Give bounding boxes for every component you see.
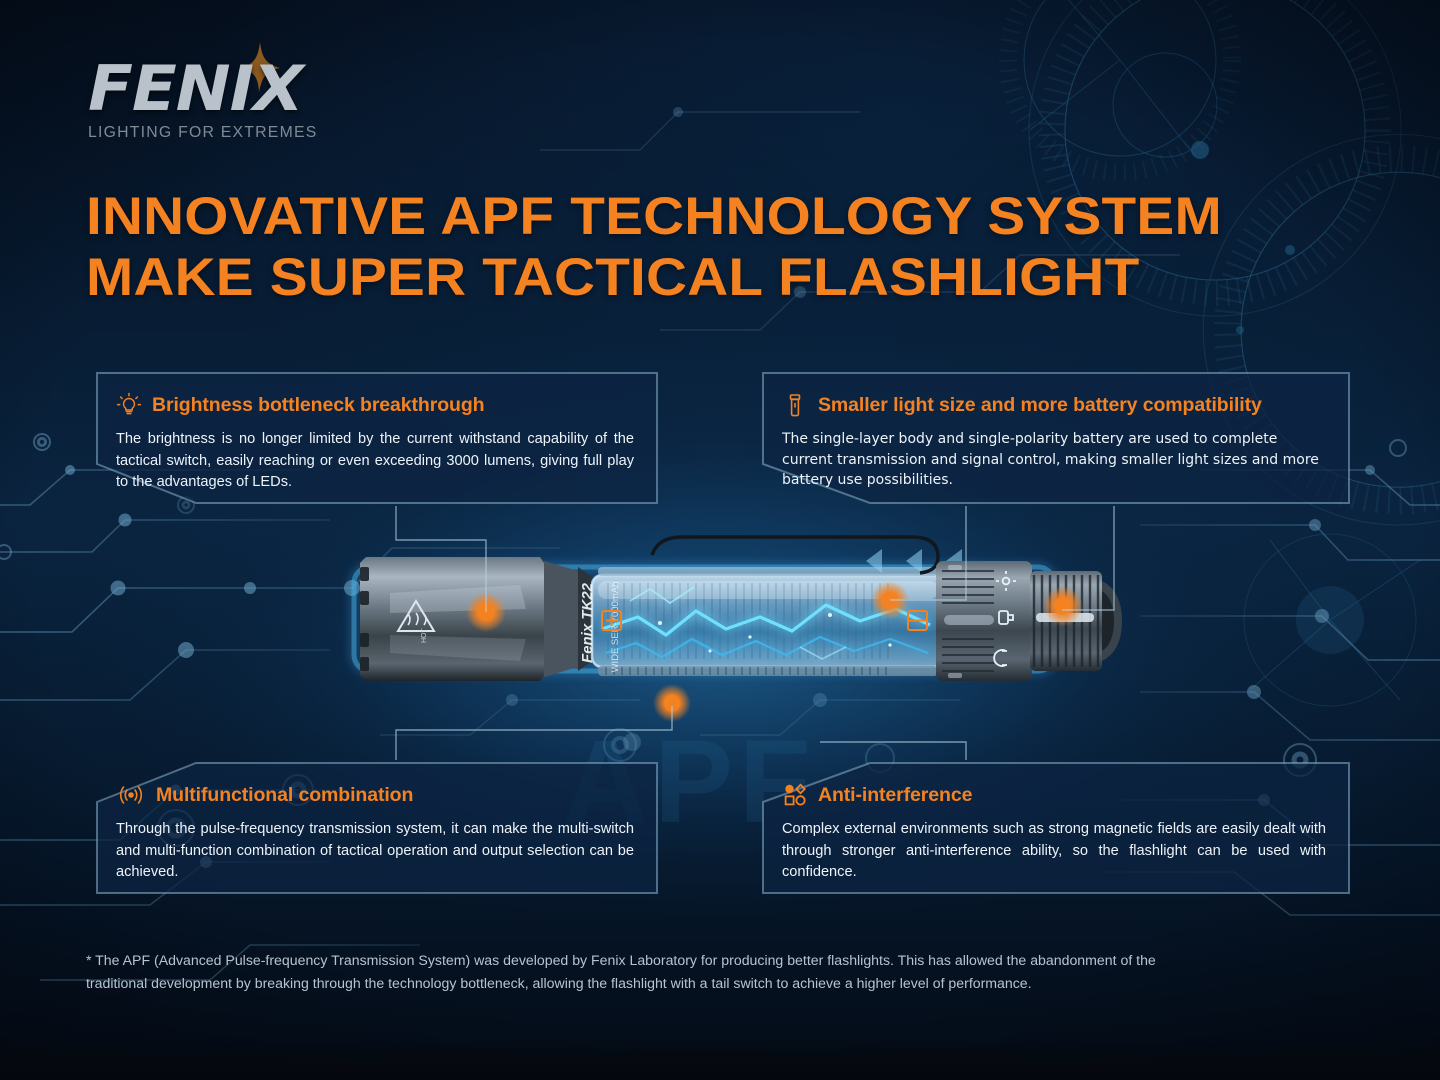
leader-line-topright-b <box>1062 506 1114 610</box>
leader-line-topleft <box>396 506 486 612</box>
leader-line-topright-a <box>890 506 966 600</box>
leader-line-bottomright <box>820 742 966 760</box>
leader-line-bottomleft <box>396 706 672 760</box>
callout-leader-lines <box>0 0 1440 1080</box>
infographic-canvas: APF <box>0 0 1440 1080</box>
